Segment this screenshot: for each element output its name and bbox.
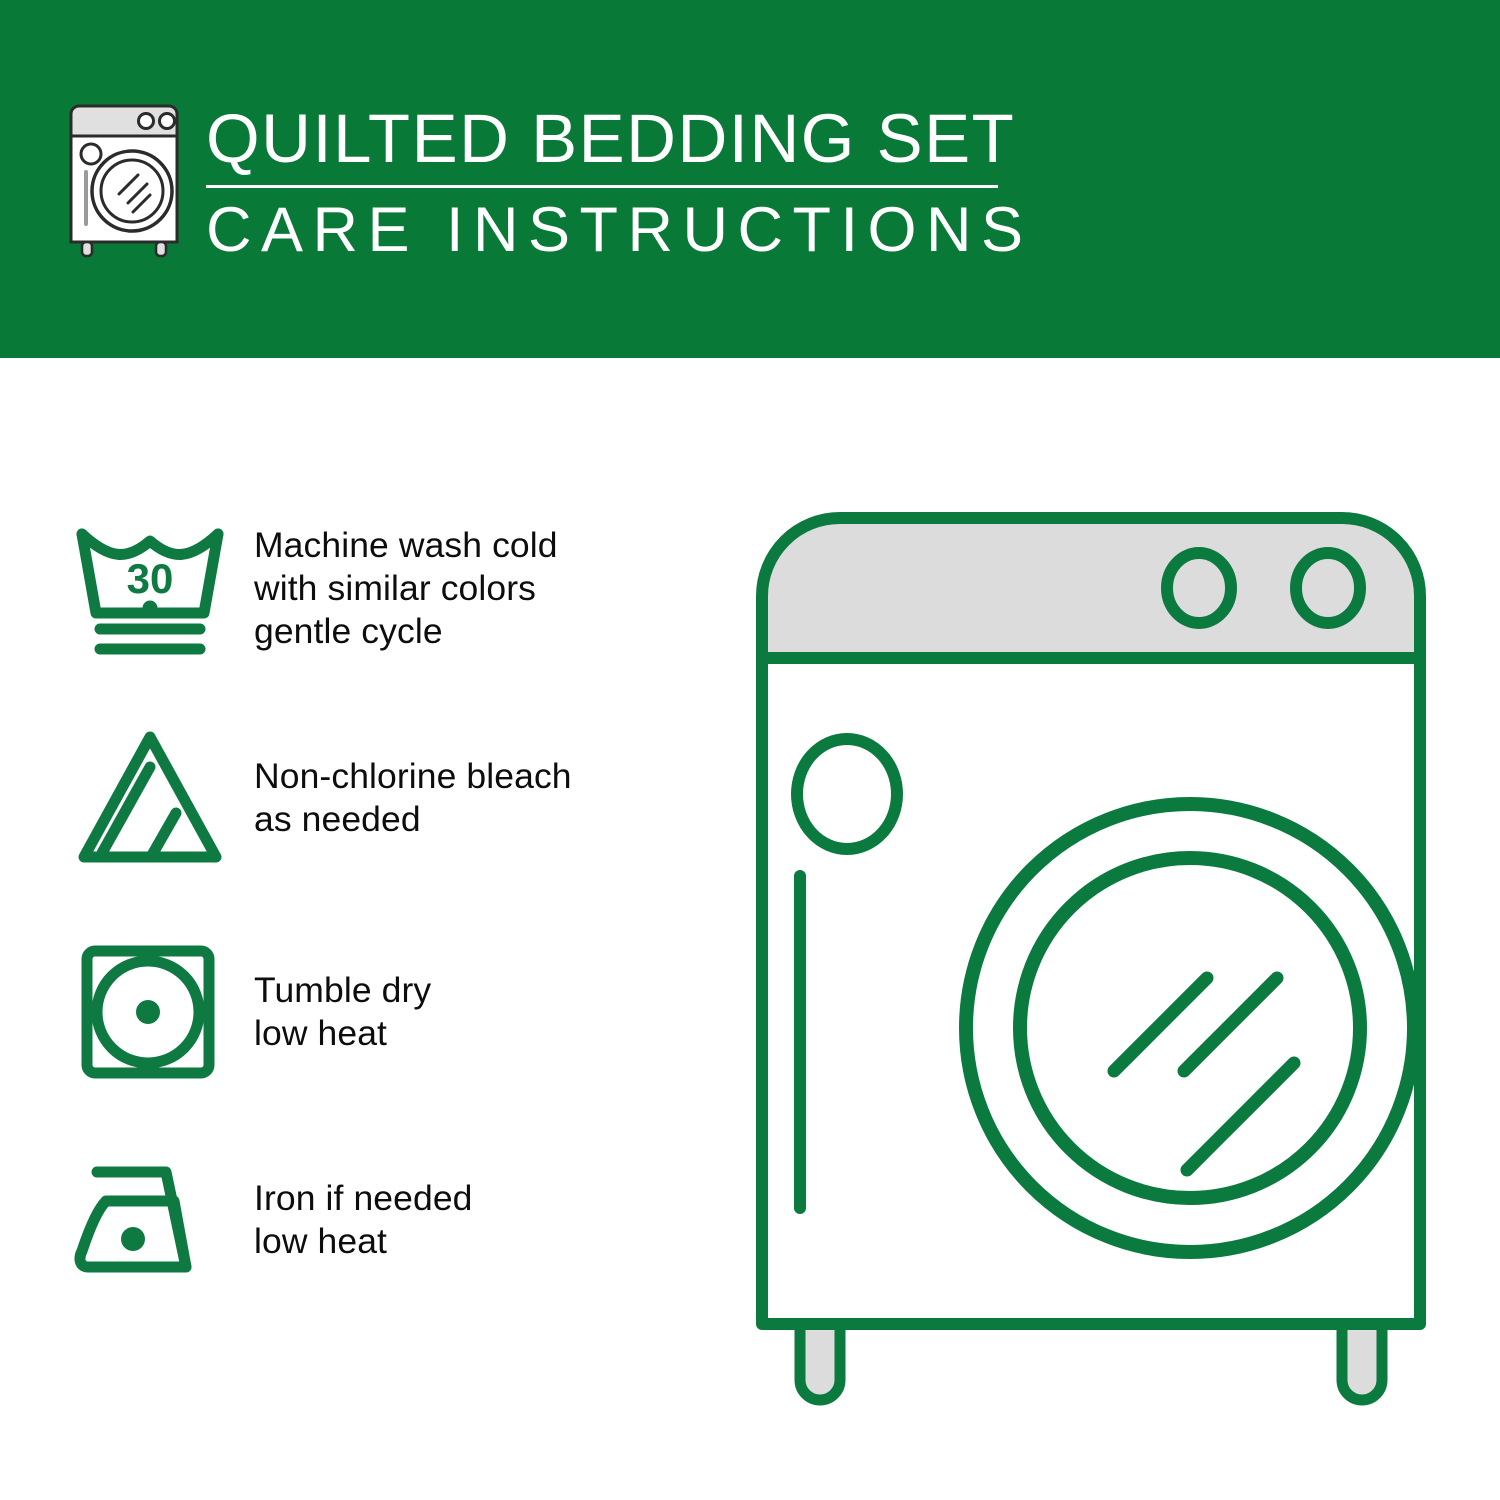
care-item-label: Tumble dry low heat — [240, 969, 431, 1055]
non-chlorine-bleach-triangle-icon — [70, 723, 240, 873]
title-divider — [206, 185, 998, 188]
care-item-label: Iron if needed low heat — [240, 1177, 473, 1263]
tumble-dry-low-heat-icon — [70, 937, 240, 1087]
care-item-label: Non-chlorine bleach as needed — [240, 755, 572, 841]
care-instructions-page: QUILTED BEDDING SET CARE INSTRUCTIONS — [0, 0, 1500, 1500]
machine-leg-left — [800, 1318, 840, 1400]
care-item-machine-wash: 30 Machine wash cold with similar colors… — [70, 505, 710, 671]
header-banner: QUILTED BEDDING SET CARE INSTRUCTIONS — [0, 0, 1500, 358]
machine-leg-right — [1342, 1318, 1382, 1400]
iron-low-heat-icon — [70, 1155, 240, 1285]
care-item-label: Machine wash cold with similar colors ge… — [240, 524, 558, 653]
dial-indicator — [797, 739, 897, 849]
door-inner-ring — [1020, 858, 1360, 1198]
header-content: QUILTED BEDDING SET CARE INSTRUCTIONS — [62, 96, 1033, 266]
control-knob-right — [1296, 553, 1360, 623]
front-load-washing-machine-illustration — [742, 498, 1442, 1423]
care-instruction-list: 30 Machine wash cold with similar colors… — [70, 505, 710, 1303]
care-item-iron: Iron if needed low heat — [70, 1137, 710, 1303]
wash-tub-30-gentle-icon: 30 — [70, 516, 240, 661]
care-item-bleach: Non-chlorine bleach as needed — [70, 715, 710, 881]
washing-machine-icon — [62, 96, 186, 264]
header-titles: QUILTED BEDDING SET CARE INSTRUCTIONS — [204, 96, 1033, 266]
page-subtitle: CARE INSTRUCTIONS — [204, 194, 1033, 266]
wash-temperature-value: 30 — [127, 555, 174, 602]
page-title: QUILTED BEDDING SET — [204, 100, 1033, 178]
care-item-tumble-dry: Tumble dry low heat — [70, 929, 710, 1095]
control-knob-left — [1167, 553, 1231, 623]
